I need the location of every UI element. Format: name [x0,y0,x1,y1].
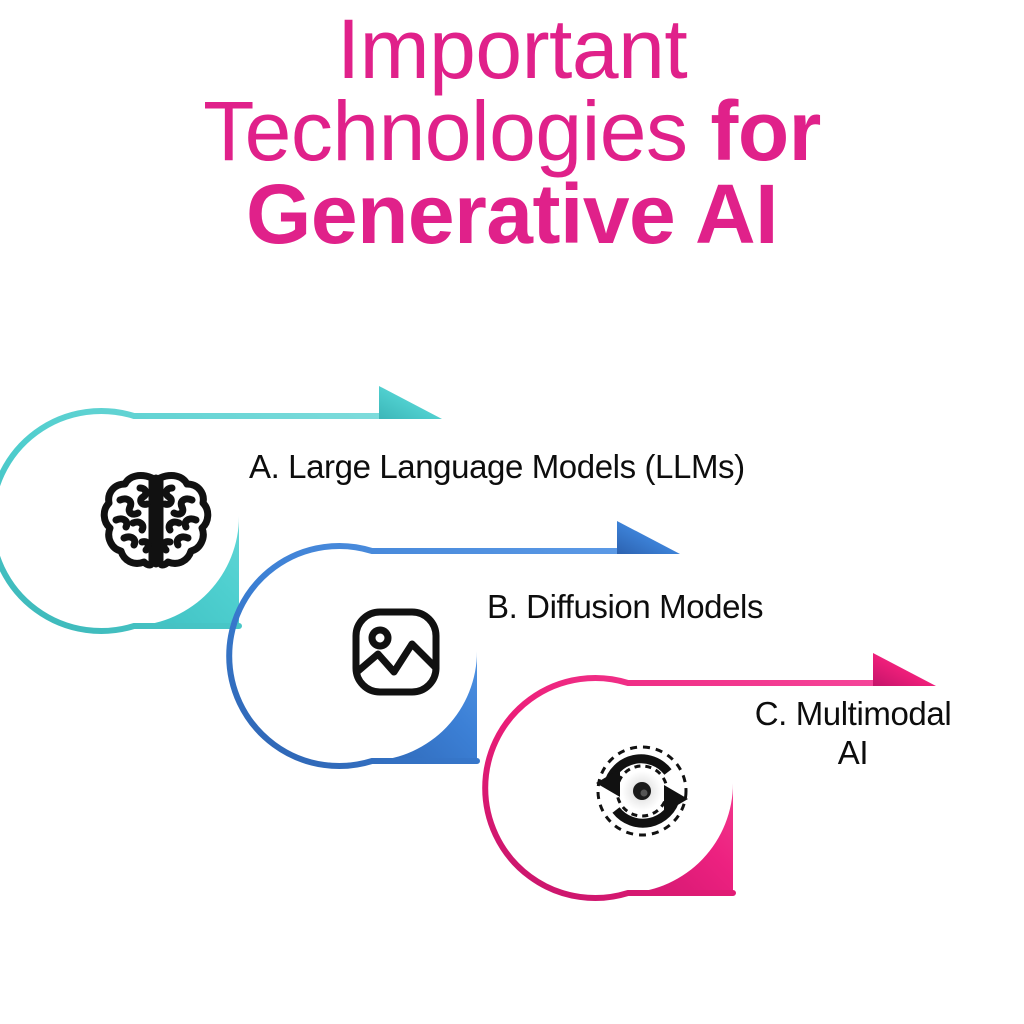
page-title: Important Technologies for Generative AI [0,8,1024,255]
brain-icon [100,470,212,570]
title-line-2-bold: for [710,84,820,178]
title-line-1: Important [0,8,1024,90]
infographic-canvas: Important Technologies for Generative AI [0,0,1024,1024]
row-label-multimodal-line2: AI [838,734,868,771]
row-multimodal: C. Multimodal AI [528,665,958,925]
row-label-llm: A. Large Language Models (LLMs) [249,448,745,487]
row-label-multimodal: C. Multimodal AI [703,695,1003,773]
row-label-diffusion: B. Diffusion Models [487,588,763,627]
image-icon [350,606,442,698]
arrowhead-diffusion [617,521,680,554]
title-line-2: Technologies for [0,90,1024,172]
sync-loop-icon [590,739,694,843]
title-line-2-light: Technologies [203,84,710,178]
title-line-3: Generative AI [0,173,1024,255]
arrowhead-llm [379,386,442,419]
arrowhead-multimodal [873,653,936,686]
row-label-multimodal-line1: C. Multimodal [755,695,952,732]
